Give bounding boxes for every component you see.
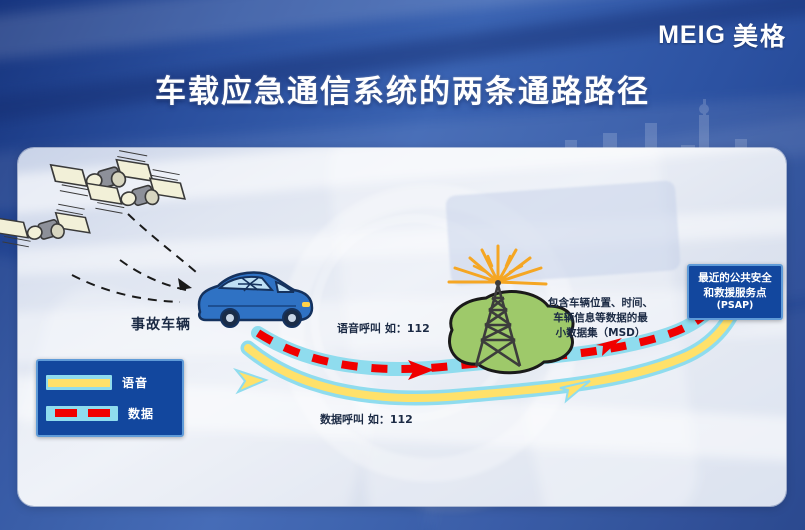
data-call-label: 数据呼叫 如：112 [320,411,413,427]
diagram-scene: 事故车辆 语音呼叫 如：112 数据呼叫 如：112 包含车辆位置、时间、 车辆… [0,0,805,530]
msd-note-line2: 车辆信息等数据的最 [548,311,653,326]
slide-canvas: MEIG 美格 车载应急通信系统的两条通路路径 [0,0,805,530]
psap-line1: 最近的公共安全 [698,271,772,285]
msd-note-line1: 包含车辆位置、时间、 [548,296,653,311]
satellite-link-arrowhead [178,278,192,290]
legend-swatch-voice-icon [46,375,112,390]
psap-box: 最近的公共安全 和救援服务点 (PSAP) [687,264,783,320]
legend-label-voice: 语音 [122,374,148,391]
voice-arrowhead-1 [236,370,266,392]
legend-item-data: 数据 [38,405,182,422]
legend-label-data: 数据 [128,405,154,422]
legend-box: 语音 数据 [36,359,184,437]
satellite-icon-2 [0,193,91,257]
vehicle-label: 事故车辆 [131,314,191,334]
psap-line2: 和救援服务点 [704,286,767,300]
satellite-link-lines [72,214,196,302]
msd-note-line3: 小数据集（MSD） [548,326,653,341]
signal-burst-icon [449,246,546,284]
psap-line3: (PSAP) [717,300,754,313]
legend-item-voice: 语音 [38,374,182,391]
msd-note: 包含车辆位置、时间、 车辆信息等数据的最 小数据集（MSD） [548,296,653,342]
voice-call-label: 语音呼叫 如：112 [337,320,430,336]
scene-vector-layer [0,0,805,530]
legend-swatch-data-icon [46,406,118,421]
crashed-car-icon [199,273,312,328]
